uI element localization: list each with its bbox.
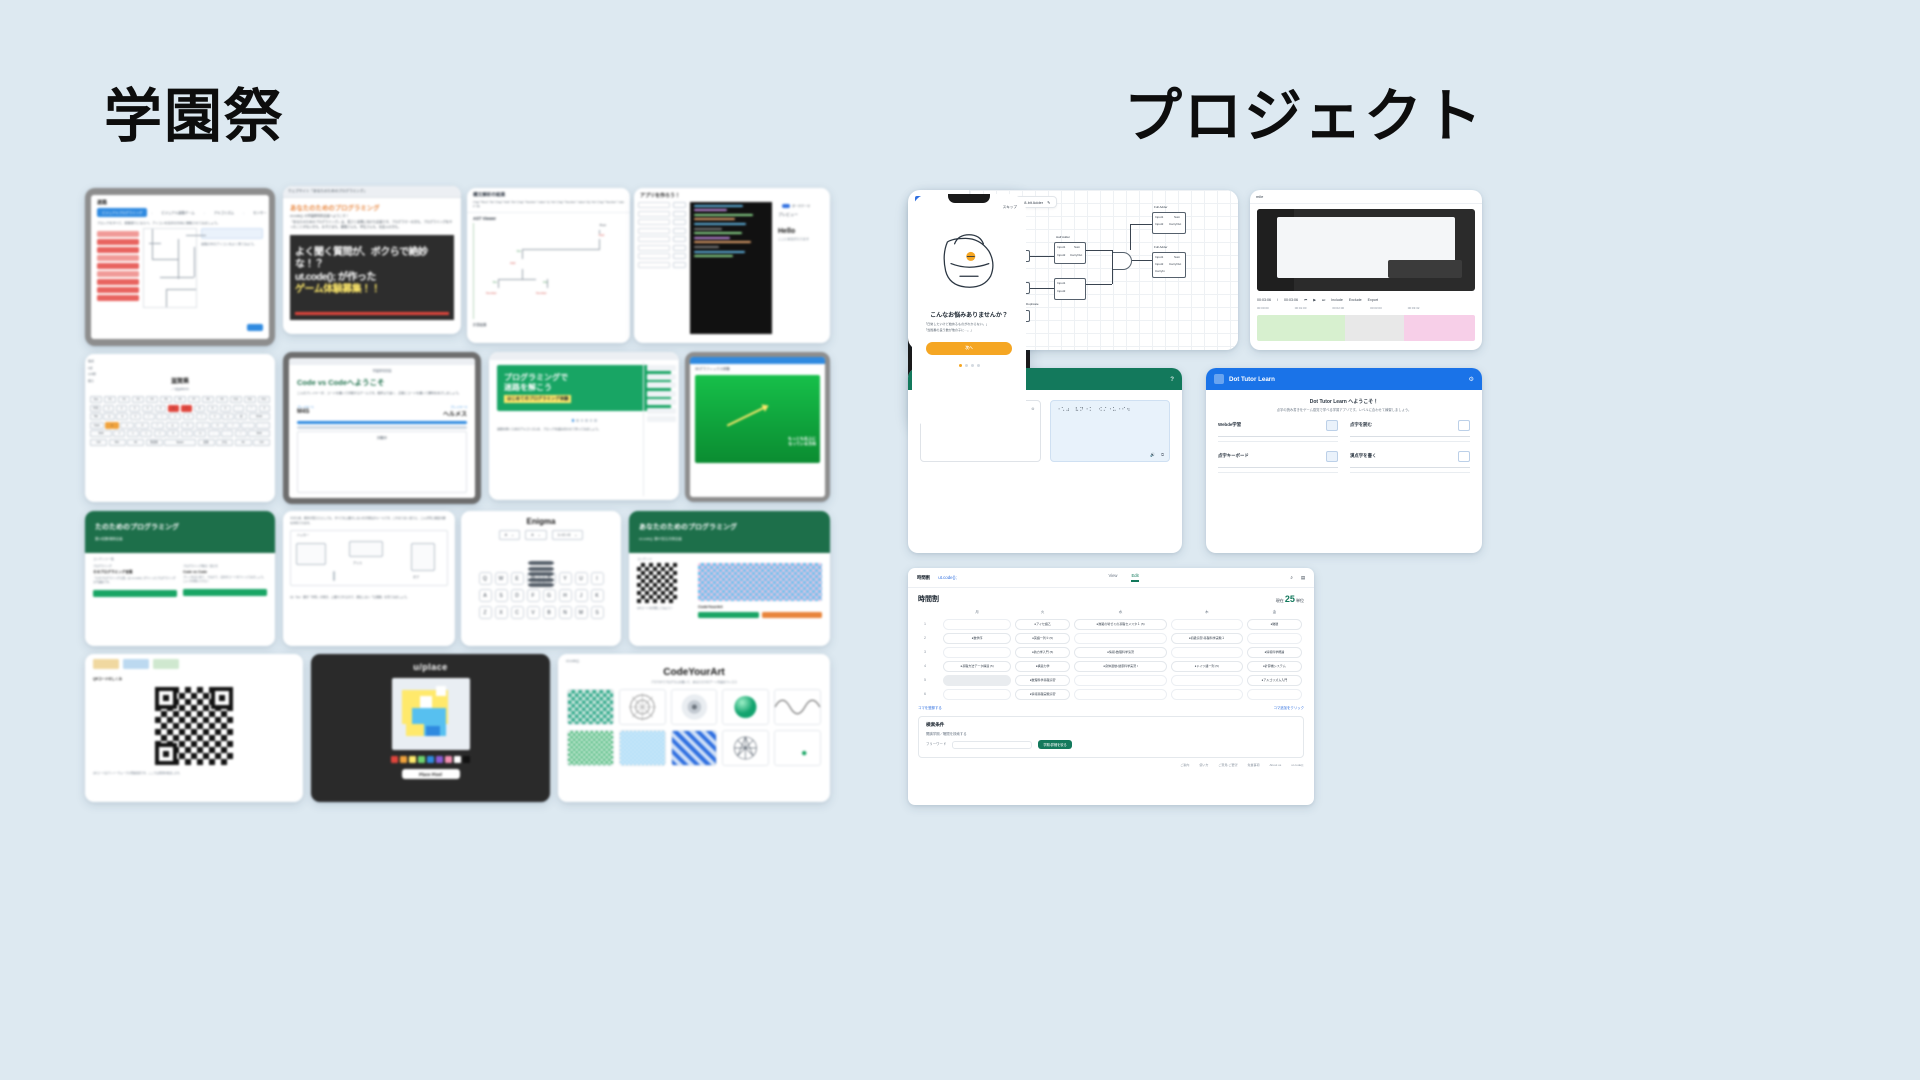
terrain-canvas[interactable]: もっとも右上に なっている方向 xyxy=(695,375,820,463)
card-qr-document[interactable]: QRコードのしくみ QRコードはデンソーウェーブの登録商標です。ここでは原理を解… xyxy=(85,654,303,802)
maze-run-button[interactable] xyxy=(247,324,263,331)
timetable-logo-text[interactable]: ut.code(); xyxy=(938,575,957,580)
maze-block[interactable] xyxy=(97,271,139,277)
key[interactable]: Esc xyxy=(90,396,102,403)
slide-thumb[interactable] xyxy=(647,365,676,371)
timetable-cell[interactable]: ●熱力学入門 (5) xyxy=(1015,647,1070,658)
key[interactable]: F8 xyxy=(202,396,214,403)
key-highlight[interactable]: 6 xyxy=(168,405,179,412)
dtl-tile-2[interactable]: 点字キーボード xyxy=(1218,451,1338,473)
card-phone-onboarding[interactable]: スキップ こんなお悩みありませんか？ 「日常したいけど始 xyxy=(908,190,1030,430)
key[interactable]: d xyxy=(135,422,149,429)
maze-block[interactable] xyxy=(97,295,139,301)
key[interactable]: : xyxy=(256,422,270,429)
timetable-cell[interactable]: ●計算機システム xyxy=(1247,661,1302,672)
key[interactable]: r xyxy=(143,413,155,420)
key[interactable]: ^ xyxy=(246,405,257,412)
card-course-list[interactable]: たのためのプログラミング 第14回駒場祭企画 コンテンツ一覧 プログラミング そ… xyxy=(85,511,275,646)
enigma-key[interactable]: C xyxy=(511,606,524,619)
key[interactable]: Ctrl xyxy=(253,439,270,446)
enigma-key[interactable]: U xyxy=(575,572,588,585)
timetable-cell[interactable] xyxy=(943,675,1011,686)
key[interactable]: 8 xyxy=(194,405,205,412)
tab-view[interactable]: View xyxy=(1108,573,1117,582)
keyboard-row-2[interactable]: Tab q w e r t y u i o p @ Enter xyxy=(85,413,275,422)
timetable-cell[interactable] xyxy=(1171,675,1243,686)
field-input[interactable] xyxy=(638,219,670,225)
course-item[interactable]: プログラミング教室／遊び方 Code vs Code プレイをはじめて、つなげて… xyxy=(183,563,267,597)
timetable-cell[interactable]: ●進路の場ゼミの基礎セメスタ１ (5) xyxy=(1074,619,1167,630)
palette-swatch[interactable] xyxy=(454,756,461,763)
maze-block[interactable] xyxy=(97,263,139,269)
slides-sidebar[interactable] xyxy=(643,362,679,496)
key[interactable]: F2 xyxy=(118,396,130,403)
enigma-key[interactable]: Z xyxy=(479,606,492,619)
palette-swatch[interactable] xyxy=(409,756,416,763)
timetable-cell[interactable]: ●英語一列② (5) xyxy=(1015,633,1070,644)
keyboard-row-0[interactable]: Esc F1 F2 F3 F4 F5 F6 F7 F8 F9 F10 F11 F… xyxy=(85,396,275,405)
key[interactable]: g xyxy=(166,422,180,429)
add-button[interactable] xyxy=(673,245,686,251)
timetable-footer-links[interactable]: コマを登録する コマ追加をクリック xyxy=(908,701,1314,712)
palette-swatch[interactable] xyxy=(445,756,452,763)
maze-tab-3[interactable]: センサー xyxy=(248,208,269,217)
dtl-tile-1[interactable]: 点字を読む xyxy=(1350,420,1470,442)
maze-block[interactable] xyxy=(97,247,139,253)
page-dot[interactable] xyxy=(971,364,974,367)
timetable-cell[interactable]: ●構造力学 xyxy=(1015,661,1070,672)
key[interactable]: - xyxy=(233,405,244,412)
exclude-button[interactable]: Exclude xyxy=(1349,298,1362,302)
enigma-key[interactable]: V xyxy=(527,606,540,619)
key[interactable]: k xyxy=(211,422,225,429)
key[interactable]: Tab xyxy=(90,413,102,420)
key[interactable]: j xyxy=(196,422,210,429)
art-buttons[interactable] xyxy=(698,612,822,618)
key[interactable]: F3 xyxy=(132,396,144,403)
bottom-link[interactable]: ut.code(); xyxy=(1291,763,1304,767)
course-cta-button[interactable] xyxy=(93,590,177,597)
copy-icon[interactable]: ⧉ xyxy=(1161,452,1164,457)
art-tile[interactable] xyxy=(567,689,614,725)
timetable-cell[interactable] xyxy=(1171,619,1243,630)
key[interactable]: l xyxy=(226,422,240,429)
dtl-tile-3[interactable]: 漢点字を書く xyxy=(1350,451,1470,473)
bottom-link[interactable]: ご意見・ご要望 xyxy=(1218,763,1237,767)
freeword-input[interactable] xyxy=(952,741,1032,749)
timetable-cell[interactable] xyxy=(943,689,1011,700)
timetable-cell[interactable]: ●情報・数理科学演習 xyxy=(1074,647,1167,658)
card-app-builder[interactable]: アプリを作ろう！ xyxy=(634,188,830,343)
settings-icon[interactable]: ⚙ xyxy=(1468,376,1474,383)
rotor-select-0[interactable]: A⌄ xyxy=(499,530,520,540)
key[interactable]: z xyxy=(113,430,125,437)
enigma-key[interactable]: M xyxy=(575,606,588,619)
key-space[interactable]: Space xyxy=(164,439,196,446)
key[interactable]: 無変換 xyxy=(146,439,163,446)
key-highlight[interactable]: a xyxy=(105,422,119,429)
key[interactable]: i xyxy=(196,413,208,420)
palette-swatch[interactable] xyxy=(463,756,470,763)
bottom-link[interactable]: 使い方 xyxy=(1199,763,1208,767)
timetable-cell[interactable]: ●微積 xyxy=(1247,619,1302,630)
maze-block[interactable] xyxy=(97,255,139,261)
slide-thumb[interactable] xyxy=(647,374,676,380)
bottom-link[interactable]: ご案内 xyxy=(1180,763,1189,767)
enigma-key[interactable]: K xyxy=(591,589,604,602)
key[interactable]: m xyxy=(194,430,206,437)
app-builder-fields[interactable] xyxy=(634,202,690,337)
card-enigma[interactable]: Enigma A⌄ A⌄ 1->2->3⌄ Q W E R T xyxy=(461,511,621,646)
key[interactable]: 3 xyxy=(129,405,140,412)
card-qr-art[interactable]: あなたのためのプログラミング ut.code(); 第97回五月祭企画 コンテン… xyxy=(629,511,830,646)
enigma-key[interactable]: F xyxy=(527,589,540,602)
cvc-titlebar xyxy=(289,358,475,365)
export-button[interactable]: Export xyxy=(1368,298,1378,302)
theme-toggle[interactable]: ダークテーマ xyxy=(778,202,826,210)
key[interactable]: F11 xyxy=(244,396,256,403)
page-dot[interactable] xyxy=(572,419,575,422)
art-tile[interactable] xyxy=(774,689,821,725)
enigma-key[interactable]: Y xyxy=(559,572,572,585)
enigma-key[interactable]: B xyxy=(543,606,556,619)
key[interactable]: h xyxy=(181,422,195,429)
field-input[interactable] xyxy=(638,262,670,268)
field-input[interactable] xyxy=(638,245,670,251)
onboarding-pagination[interactable] xyxy=(912,364,1026,367)
key[interactable]: F1 xyxy=(104,396,116,403)
slide-thumb[interactable] xyxy=(647,416,676,422)
enigma-key[interactable]: G xyxy=(543,589,556,602)
ast-edge-lhs: lhs xyxy=(517,249,521,253)
slide-thumb[interactable] xyxy=(647,391,676,397)
key[interactable]: 5 xyxy=(155,405,166,412)
key[interactable]: b xyxy=(167,430,179,437)
key[interactable]: Caps xyxy=(90,422,104,429)
keyboard-row-4[interactable]: Shift z x c v b n m , . / Shift xyxy=(85,430,275,439)
art-tile[interactable] xyxy=(774,730,821,766)
key[interactable]: f xyxy=(151,422,165,429)
key[interactable]: v xyxy=(154,430,166,437)
slide-thumb[interactable] xyxy=(647,382,676,388)
timetable-cell[interactable] xyxy=(1074,633,1167,644)
play-icon[interactable]: ▶ xyxy=(1313,298,1316,302)
key[interactable]: F4 xyxy=(146,396,158,403)
course-desc: 「そのプログラミング言葉」は ut.code(); がつくったプログラミング入門… xyxy=(93,577,177,586)
field-input[interactable] xyxy=(638,253,670,259)
card-hacker-diagram[interactable]: そのため、相手が変えたとしても、すべてを上書きしないのが通信のルールです。これを… xyxy=(283,511,455,646)
search-icon[interactable]: ⌕ xyxy=(1290,575,1292,580)
add-button[interactable] xyxy=(673,228,686,234)
key-shift-r[interactable]: Shift xyxy=(248,430,270,437)
slide-thumb[interactable] xyxy=(647,399,676,405)
keyboard-row-5[interactable]: Ctrl Win Alt 無変換 Space 変換 かな Alt Ctrl xyxy=(85,439,275,448)
keyboard-row-1[interactable]: 半角 1 2 3 4 5 6 7 8 9 0 - ^ ¥ xyxy=(85,405,275,414)
key[interactable]: w xyxy=(116,413,128,420)
video-timeline[interactable] xyxy=(1257,315,1475,341)
add-button[interactable] xyxy=(673,211,686,217)
timetable-cell[interactable]: ●ドイツ語一列 (5) xyxy=(1171,661,1243,672)
card-code-vs-code[interactable]: 学園祭特別版 Code vs Codeへようこそ 二人のプレイヤーが、コードを書… xyxy=(283,352,481,504)
bottom-link[interactable]: 免責事項 xyxy=(1247,763,1259,767)
enigma-key[interactable]: S xyxy=(495,589,508,602)
key-highlight[interactable]: 7 xyxy=(181,405,192,412)
gate-or[interactable] xyxy=(1112,252,1132,270)
maze-block[interactable] xyxy=(97,239,139,245)
timeline-clip-excluded[interactable] xyxy=(1404,315,1475,341)
enigma-key[interactable]: J xyxy=(575,589,588,602)
key[interactable]: ; xyxy=(241,422,255,429)
timetable-cell[interactable] xyxy=(1247,633,1302,644)
add-button[interactable] xyxy=(673,262,686,268)
page-dot[interactable] xyxy=(977,364,980,367)
art-tile[interactable] xyxy=(722,730,769,766)
palette-swatch[interactable] xyxy=(391,756,398,763)
card-website[interactable]: ウェブサイト「あなたのためのプログラミング」 あなたのためのプログラミング ut… xyxy=(283,186,461,334)
enigma-key[interactable]: Q xyxy=(479,572,492,585)
search-row-1[interactable]: フリーワード 学期・詳細を絞る xyxy=(926,740,1296,749)
website-urlbar[interactable]: ウェブサイト「あなたのためのプログラミング」 xyxy=(283,186,461,198)
key[interactable]: o xyxy=(209,413,221,420)
page-dot[interactable] xyxy=(585,419,588,422)
field-input[interactable] xyxy=(638,228,670,234)
card-uplace[interactable]: u/place Place Pixel xyxy=(311,654,550,802)
palette-swatch[interactable] xyxy=(436,756,443,763)
enigma-key[interactable]: H xyxy=(559,589,572,602)
view-works-button[interactable] xyxy=(762,612,823,618)
key[interactable]: 変換 xyxy=(198,439,215,446)
enigma-key[interactable]: A xyxy=(479,589,492,602)
timetable-cell[interactable]: ●初級演習・基礎科学実験１ xyxy=(1171,633,1243,644)
key[interactable]: u xyxy=(183,413,195,420)
key[interactable]: e xyxy=(130,413,142,420)
key[interactable]: t xyxy=(156,413,168,420)
key[interactable]: 9 xyxy=(207,405,218,412)
maze-tab-0[interactable]: ビジュアルプログラミング xyxy=(97,208,147,217)
card-3d-terrain[interactable]: 3Dグラフィックス体験 もっとも右上に なっている方向 xyxy=(685,352,830,502)
timetable-cell[interactable] xyxy=(1074,689,1167,700)
pin-label: Input1 xyxy=(1057,281,1065,285)
timetable-cell[interactable]: ●アイセ語乙 xyxy=(1015,619,1070,630)
key[interactable]: ¥ xyxy=(259,405,270,412)
table-row: 3 ●熱力学入門 (5) ●情報・数理科学演習 ●情報科学概論 xyxy=(918,645,1304,659)
key[interactable]: q xyxy=(103,413,115,420)
key[interactable]: F10 xyxy=(230,396,242,403)
enigma-key[interactable]: X xyxy=(495,606,508,619)
timetable-cell[interactable] xyxy=(1247,689,1302,700)
course-cta-button[interactable] xyxy=(183,589,267,596)
key[interactable]: F6 xyxy=(174,396,186,403)
page-dot[interactable] xyxy=(590,419,593,422)
rotor-select-1[interactable]: A⌄ xyxy=(525,530,546,540)
register-slot-link[interactable]: コマを登録する xyxy=(918,705,942,710)
key-shift[interactable]: Shift xyxy=(90,430,112,437)
maze-block[interactable] xyxy=(97,231,139,237)
timetable-cell[interactable]: ●情報基礎実験演習 xyxy=(1015,689,1070,700)
key[interactable]: 0 xyxy=(220,405,231,412)
website-video[interactable]: よく聞く質問が、ボクらで絶妙な！？ ut.code(); が作った ゲーム体験募… xyxy=(290,235,454,320)
field-input[interactable] xyxy=(638,236,670,242)
onboarding-next-button[interactable]: 次へ xyxy=(926,342,1012,355)
page-dot[interactable] xyxy=(959,364,962,367)
key[interactable]: 4 xyxy=(142,405,153,412)
key[interactable]: @ xyxy=(235,413,247,420)
key[interactable]: Ctrl xyxy=(90,439,107,446)
maze-tab-2[interactable]: アルゴリズム xyxy=(209,208,239,217)
art-tile[interactable] xyxy=(722,689,769,725)
video-tab-title[interactable]: mile xyxy=(1256,194,1263,199)
timetable-cell[interactable]: ●情報科学概論 xyxy=(1247,647,1302,658)
search-submit-button[interactable]: 学期・詳細を絞る xyxy=(1038,740,1071,749)
enigma-keyrow-2[interactable]: Z X C V B N M S xyxy=(461,604,621,621)
art-tile[interactable] xyxy=(619,689,666,725)
add-button[interactable] xyxy=(673,253,686,259)
key[interactable]: 半角 xyxy=(90,405,101,412)
palette-swatch[interactable] xyxy=(418,756,425,763)
dtl-tile-0[interactable]: Webde学習 xyxy=(1218,420,1338,442)
video-preview-stage[interactable] xyxy=(1257,209,1475,291)
maze-app-tabs[interactable]: ビジュアルプログラミング › ビジュアル迷路ゲーム › アルゴリズム › センサ… xyxy=(91,208,269,220)
page-dot[interactable] xyxy=(581,419,584,422)
key[interactable]: n xyxy=(181,430,193,437)
timetable-cell[interactable] xyxy=(1171,689,1243,700)
maze-block-palette[interactable] xyxy=(97,228,139,308)
key[interactable]: . xyxy=(221,430,233,437)
key[interactable]: F12 xyxy=(258,396,270,403)
enigma-key[interactable]: E xyxy=(511,572,524,585)
start-button[interactable] xyxy=(698,612,759,618)
timetable-cell[interactable] xyxy=(1074,675,1167,686)
add-button[interactable] xyxy=(673,236,686,242)
uplace-palette[interactable] xyxy=(319,756,542,763)
card-maze-slides[interactable]: プログラミングで 迷路を解こう はじめてのプログラミング体験 迷路を解くためのア… xyxy=(489,352,679,500)
key[interactable]: F5 xyxy=(160,396,172,403)
course-item[interactable]: プログラミング そのプログラミング言葉 「そのプログラミング言葉」は ut.co… xyxy=(93,563,177,597)
key[interactable]: y xyxy=(169,413,181,420)
timetable-tabs[interactable]: View Edit xyxy=(1108,573,1138,582)
include-button[interactable]: Include xyxy=(1331,298,1343,302)
speaker-icon[interactable]: 🔊 xyxy=(1150,452,1155,457)
card-maze-app[interactable]: 迷路 ビジュアルプログラミング › ビジュアル迷路ゲーム › アルゴリズム › … xyxy=(85,188,275,346)
timeline-clip-included[interactable] xyxy=(1257,315,1345,341)
keyboard-row-3[interactable]: Caps a s d f g h j k l ; : xyxy=(85,422,275,431)
add-button[interactable] xyxy=(673,219,686,225)
enigma-key[interactable]: N xyxy=(559,606,572,619)
card-video-editor[interactable]: mile 00:03:06 / 00:03:06 ⏮ ▶ ⏭ Include E… xyxy=(1250,190,1482,350)
page-dot[interactable] xyxy=(576,419,579,422)
tab-edit[interactable]: Edit xyxy=(1131,573,1138,582)
key[interactable]: c xyxy=(140,430,152,437)
qr-header: あなたのためのプログラミング ut.code(); 第97回五月祭企画 xyxy=(629,511,830,553)
palette-swatch[interactable] xyxy=(427,756,434,763)
toggle-switch-icon[interactable] xyxy=(782,204,790,208)
menu-icon[interactable]: ▤ xyxy=(1301,575,1305,581)
help-icon[interactable]: ? xyxy=(1170,376,1174,383)
key[interactable]: F9 xyxy=(216,396,228,403)
enigma-rotor-selects[interactable]: A⌄ A⌄ 1->2->3⌄ xyxy=(461,530,621,544)
card-dot-tutor-learn[interactable]: Dot Tutor Learn ⚙ Dot Tutor Learn へようこそ！… xyxy=(1206,368,1482,553)
uplace-canvas[interactable] xyxy=(392,678,470,750)
edit-pencil-icon[interactable]: ✎ xyxy=(1047,200,1050,205)
key[interactable]: Win xyxy=(109,439,126,446)
search-row-0[interactable]: 開講学期／曜限を検索する xyxy=(926,732,1296,737)
key[interactable]: Alt xyxy=(127,439,144,446)
page-dot[interactable] xyxy=(965,364,968,367)
cya-nav[interactable]: ut.code(); xyxy=(558,654,830,663)
key[interactable]: , xyxy=(208,430,220,437)
key[interactable]: s xyxy=(120,422,134,429)
skip-end-icon[interactable]: ⏭ xyxy=(1322,298,1325,302)
key[interactable]: x xyxy=(127,430,139,437)
art-tile[interactable] xyxy=(671,689,718,725)
timeline-clip-neutral[interactable] xyxy=(1345,315,1404,341)
video-progress-bar[interactable] xyxy=(295,312,449,315)
page-dot[interactable] xyxy=(594,419,597,422)
maze-block[interactable] xyxy=(97,287,139,293)
card-timetable[interactable]: 時間割 ut.code(); View Edit ⌕ ▤ 時間割 現在 25 単… xyxy=(908,568,1314,805)
timetable-bottom-links[interactable]: ご案内 使い方 ご意見・ご要望 免責事項 About us ut.code(); xyxy=(908,758,1314,772)
field-input[interactable] xyxy=(638,211,670,217)
field-row xyxy=(638,253,686,259)
timetable-cell[interactable]: ●基礎方法データ構造 (5) xyxy=(943,661,1011,672)
key[interactable]: かな xyxy=(216,439,233,446)
card-code-your-art[interactable]: ut.code(); CodeYourArt ブラウザでプログラムを書いて、あな… xyxy=(558,654,830,802)
maze-tab-1[interactable]: ビジュアル迷路ゲーム xyxy=(156,208,199,217)
enigma-key[interactable]: W xyxy=(495,572,508,585)
key[interactable]: p xyxy=(222,413,234,420)
rotor-order-select[interactable]: 1->2->3⌄ xyxy=(552,530,584,540)
key-enter[interactable]: Enter xyxy=(249,413,270,420)
dtl-heading: Dot Tutor Learn へようこそ！ xyxy=(1206,390,1482,408)
add-slot-hint[interactable]: コマ追加をクリック xyxy=(1273,705,1304,710)
timetable-cell[interactable] xyxy=(1171,647,1243,658)
place-pixel-button[interactable]: Place Pixel xyxy=(402,769,460,779)
bottom-link[interactable]: About us xyxy=(1269,763,1281,767)
art-tile[interactable] xyxy=(567,730,614,766)
timetable-cell[interactable]: ●アルゴリズム入門 xyxy=(1247,675,1302,686)
key[interactable]: F7 xyxy=(188,396,200,403)
art-column[interactable]: CodeYourArt xyxy=(698,563,822,618)
enigma-key[interactable]: D xyxy=(511,589,524,602)
slides-toolbar[interactable] xyxy=(489,352,679,360)
key[interactable]: 2 xyxy=(116,405,127,412)
timetable-cell[interactable] xyxy=(943,619,1011,630)
card-ast-viewer[interactable]: 構文解析の結果 {"tag":"Root","lhs":{"tag":"Add"… xyxy=(467,188,630,343)
slide-thumb[interactable] xyxy=(647,408,676,414)
enigma-keyrow-1[interactable]: A S D F G H J K xyxy=(461,587,621,604)
enigma-key[interactable]: I xyxy=(591,572,604,585)
key[interactable]: / xyxy=(235,430,247,437)
app-builder-code[interactable] xyxy=(690,202,772,334)
skip-start-icon[interactable]: ⏮ xyxy=(1304,298,1307,302)
add-button[interactable] xyxy=(673,202,686,208)
card-typing-game[interactable]: 得点 0点 129秒 残り 滋賀県 ／ujigakenn Esc F1 F2 F… xyxy=(85,354,275,502)
field-input[interactable] xyxy=(638,202,670,208)
timetable-cell[interactable]: ●数理科学基礎演習 xyxy=(1015,675,1070,686)
maze-block[interactable] xyxy=(97,279,139,285)
art-tile[interactable] xyxy=(671,730,718,766)
clear-icon[interactable]: ⊗ xyxy=(1031,406,1034,411)
timetable-cell[interactable] xyxy=(943,647,1011,658)
palette-swatch[interactable] xyxy=(400,756,407,763)
tile-label: 点字を読む xyxy=(1350,422,1372,428)
key[interactable]: 1 xyxy=(103,405,114,412)
key[interactable]: Alt xyxy=(235,439,252,446)
art-tile[interactable] xyxy=(619,730,666,766)
timetable-cell[interactable]: ●身体運動・健康科学実習 I xyxy=(1074,661,1167,672)
timetable-cell[interactable]: ●数学序 xyxy=(943,633,1011,644)
video-transport-controls[interactable]: 00:03:06 / 00:03:06 ⏮ ▶ ⏭ Include Exclud… xyxy=(1250,296,1482,304)
